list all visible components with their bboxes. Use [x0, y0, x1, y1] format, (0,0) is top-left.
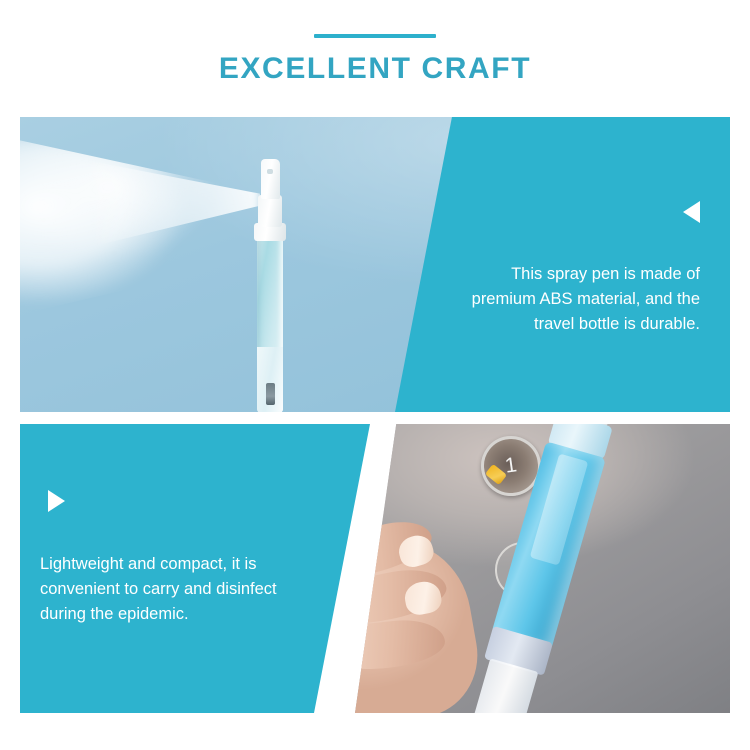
banner-header: EXCELLENT CRAFT: [0, 0, 750, 110]
left-triangle-icon: [683, 201, 700, 223]
bottom-right-photo-panel: 1 -1: [355, 424, 730, 713]
top-right-text-panel: This spray pen is made of premium ABS ma…: [395, 117, 730, 412]
spray-pen-bottle: [253, 151, 287, 412]
pen-nozzle: [358, 471, 385, 501]
bottom-left-text-panel: Lightweight and compact, it is convenien…: [20, 424, 370, 713]
bottle-neck: [258, 195, 282, 227]
product-banner: EXCELLENT CRAFT This spray pen is made o…: [0, 0, 750, 750]
pen-collar: [355, 489, 379, 526]
bottle-pump-head: [261, 159, 280, 199]
bottom-left-body-text: Lightweight and compact, it is convenien…: [40, 552, 290, 627]
top-row: This spray pen is made of premium ABS ma…: [20, 117, 730, 412]
bottle-piston: [266, 383, 275, 405]
bottom-row: Lightweight and compact, it is convenien…: [20, 424, 730, 713]
bottle-nozzle-tip: [267, 169, 273, 174]
title-divider-rule: [314, 34, 436, 38]
top-right-body-text: This spray pen is made of premium ABS ma…: [450, 262, 700, 337]
page-title: EXCELLENT CRAFT: [0, 54, 750, 84]
right-triangle-icon: [48, 490, 65, 512]
